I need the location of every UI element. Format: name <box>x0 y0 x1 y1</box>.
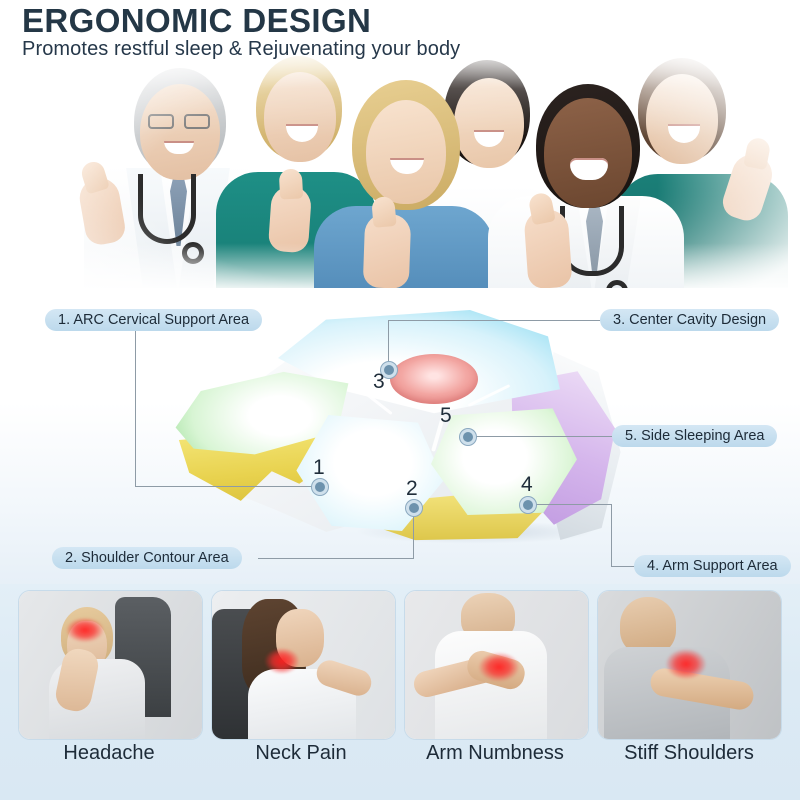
callout-label-4[interactable]: 4. Arm Support Area <box>634 555 791 577</box>
man-holding-arm-numbness-photo <box>405 591 588 739</box>
symptom-card-stiff-shoulders[interactable] <box>597 590 782 740</box>
symptom-caption-stiff-shoulders: Stiff Shoulders <box>594 742 784 765</box>
callout-label-3[interactable]: 3. Center Cavity Design <box>600 309 779 331</box>
symptom-card-neck-pain[interactable] <box>211 590 396 740</box>
pillow-zone-center-cavity <box>390 354 478 404</box>
marker-number-2: 2 <box>406 477 418 501</box>
ergonomic-pillow-diagram <box>150 298 620 548</box>
man-holding-shoulder-stiffness-photo <box>598 591 781 739</box>
leader-line-5 <box>467 436 612 437</box>
person-doctor-man <box>478 46 693 311</box>
symptom-strip: Headache Neck Pain Arm Numbness Stiff Sh… <box>0 584 800 800</box>
pain-glow-arm <box>471 647 527 687</box>
marker-1[interactable] <box>312 479 328 495</box>
woman-holding-neck-pain-photo <box>212 591 395 739</box>
woman-holding-head-headache-photo <box>19 591 202 739</box>
marker-5[interactable] <box>460 429 476 445</box>
marker-4[interactable] <box>520 497 536 513</box>
page-subtitle: Promotes restful sleep & Rejuvenating yo… <box>22 38 460 61</box>
page-title: ERGONOMIC DESIGN <box>22 2 371 40</box>
symptom-card-headache[interactable] <box>18 590 203 740</box>
pillow-diagram-stage: 1 2 3 4 5 1. ARC Cervical Support Area 2… <box>0 288 800 588</box>
callout-label-2[interactable]: 2. Shoulder Contour Area <box>52 547 242 569</box>
pain-glow-neck <box>258 643 306 679</box>
callout-label-1[interactable]: 1. ARC Cervical Support Area <box>45 309 262 331</box>
leader-line-1 <box>135 320 136 486</box>
marker-2[interactable] <box>406 500 422 516</box>
pain-glow-shoulder <box>658 643 714 685</box>
symptom-caption-headache: Headache <box>14 742 204 765</box>
leader-line-4 <box>611 504 612 566</box>
marker-number-1: 1 <box>313 456 325 480</box>
infographic-page: ERGONOMIC DESIGN Promotes restful sleep … <box>0 0 800 800</box>
pain-glow-head <box>59 613 111 647</box>
marker-number-4: 4 <box>521 473 533 497</box>
marker-number-3: 3 <box>373 370 385 394</box>
medical-team-thumbs-up-photo <box>0 46 800 311</box>
thumbs-up-icon <box>523 209 572 290</box>
callout-label-5[interactable]: 5. Side Sleeping Area <box>612 425 777 447</box>
thumbs-up-icon <box>363 213 412 289</box>
person-nurse-blonde <box>290 46 505 311</box>
header: ERGONOMIC DESIGN Promotes restful sleep … <box>0 0 800 72</box>
marker-number-5: 5 <box>440 404 452 428</box>
symptom-caption-arm-numbness: Arm Numbness <box>400 742 590 765</box>
symptom-card-arm-numbness[interactable] <box>404 590 589 740</box>
symptom-caption-neck-pain: Neck Pain <box>206 742 396 765</box>
